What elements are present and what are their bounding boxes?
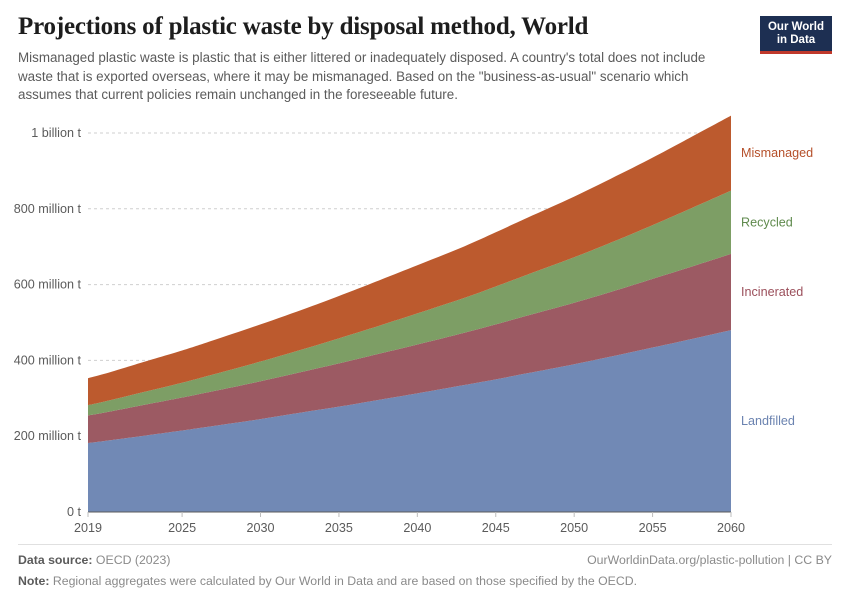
x-axis-tick-label: 2050 (560, 521, 588, 535)
series-label-incinerated[interactable]: Incinerated (741, 285, 803, 299)
series-label-mismanaged[interactable]: Mismanaged (741, 146, 813, 160)
chart-area: 0 t200 million t400 million t600 million… (0, 112, 850, 537)
chart-note-label: Note: (18, 574, 49, 588)
chart-footer: Data source: OECD (2023) OurWorldinData.… (18, 544, 832, 590)
y-axis-tick-labels: 0 t200 million t400 million t600 million… (14, 126, 82, 519)
owid-url-license[interactable]: OurWorldinData.org/plastic-pollution | C… (587, 552, 832, 569)
data-source-label: Data source: (18, 553, 93, 567)
y-axis-tick-label: 1 billion t (31, 126, 81, 140)
x-axis-tick-label: 2040 (403, 521, 431, 535)
series-label-recycled[interactable]: Recycled (741, 215, 793, 229)
data-source: Data source: OECD (2023) (18, 552, 170, 569)
data-source-value: OECD (2023) (96, 553, 171, 567)
series-labels-group[interactable]: LandfilledIncineratedRecycledMismanaged (741, 146, 813, 428)
axis-lines (88, 512, 731, 517)
y-axis-tick-label: 200 million t (14, 429, 82, 443)
x-axis-tick-label: 2035 (325, 521, 353, 535)
y-axis-tick-label: 400 million t (14, 353, 82, 367)
chart-note-value: Regional aggregates were calculated by O… (53, 574, 637, 588)
chart-subtitle: Mismanaged plastic waste is plastic that… (18, 49, 738, 105)
footer-divider (18, 544, 832, 545)
owid-logo-line2: in Data (764, 34, 828, 47)
series-label-landfilled[interactable]: Landfilled (741, 414, 795, 428)
x-axis-tick-label: 2055 (639, 521, 667, 535)
y-axis-tick-label: 800 million t (14, 202, 82, 216)
owid-logo-line1: Our World (764, 21, 828, 34)
x-axis-tick-label: 2060 (717, 521, 745, 535)
area-series-group[interactable] (88, 116, 731, 512)
page-title: Projections of plastic waste by disposal… (18, 12, 832, 42)
chart-note: Note: Regional aggregates were calculate… (18, 573, 832, 590)
stacked-area-chart[interactable]: 0 t200 million t400 million t600 million… (0, 112, 850, 537)
y-axis-tick-label: 600 million t (14, 278, 82, 292)
chart-page: Projections of plastic waste by disposal… (0, 0, 850, 600)
x-axis-tick-label: 2030 (246, 521, 274, 535)
owid-logo[interactable]: Our World in Data (760, 16, 832, 54)
x-axis-tick-label: 2045 (482, 521, 510, 535)
x-axis-tick-label: 2025 (168, 521, 196, 535)
x-axis-tick-label: 2019 (74, 521, 102, 535)
x-axis-tick-labels: 201920252030203520402045205020552060 (74, 521, 745, 535)
y-axis-tick-label: 0 t (67, 505, 82, 519)
chart-header: Projections of plastic waste by disposal… (18, 12, 832, 112)
